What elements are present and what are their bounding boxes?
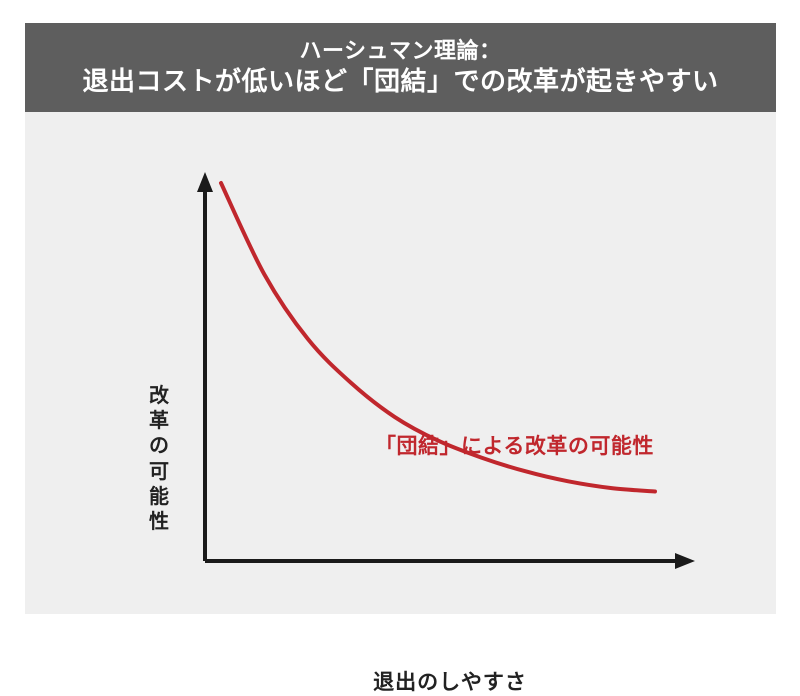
y-axis-label: 改 革 の 可 能 性: [145, 384, 173, 535]
title-line-2: 退出コストが低いほど「団結」での改革が起きやすい: [82, 65, 718, 98]
y-axis-label-char-0: 改: [145, 384, 173, 409]
y-axis-label-char-1: 革: [145, 409, 173, 434]
y-axis-arrowhead-icon: [197, 172, 213, 192]
title-line-1: ハーシュマン理論：: [299, 37, 501, 65]
slide-title-bar: ハーシュマン理論： 退出コストが低いほど「団結」での改革が起きやすい: [25, 23, 776, 112]
y-axis-label-char-2: の: [145, 434, 173, 459]
x-axis-label: 退出のしやすさ: [205, 666, 695, 696]
y-axis-label-char-3: 可: [145, 460, 173, 485]
chart-svg: [25, 112, 776, 614]
curve-annotation-label: 「団結」による改革の可能性: [375, 430, 654, 460]
y-axis-label-char-5: 性: [145, 510, 173, 535]
chart-plot-area: 「団結」による改革の可能性 改 革 の 可 能 性 退出のしやすさ: [25, 112, 776, 614]
slide-canvas: ハーシュマン理論： 退出コストが低いほど「団結」での改革が起きやすい 「団結」に…: [25, 23, 776, 614]
x-axis-arrowhead-icon: [675, 553, 695, 569]
y-axis-label-char-4: 能: [145, 485, 173, 510]
